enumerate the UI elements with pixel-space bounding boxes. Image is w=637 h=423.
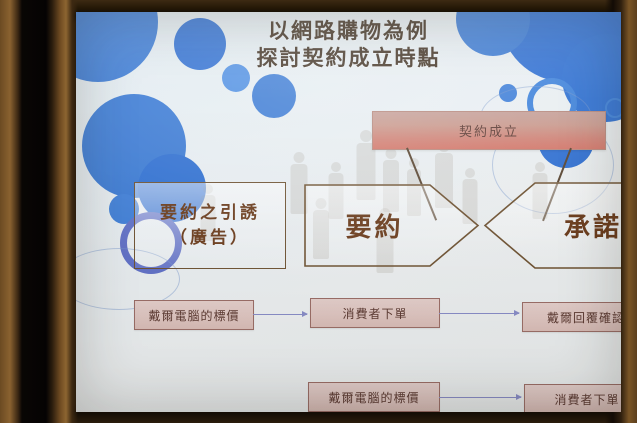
invitation-line-1: 要約之引誘	[160, 203, 260, 223]
example-row1-right-box: 戴爾回覆確認	[522, 302, 621, 332]
title-line-1: 以網路購物為例	[76, 18, 621, 45]
presentation-slide: 以網路購物為例 探討契約成立時點 契約成立 要約之引誘 （廣告） 要約 承諾	[76, 12, 621, 412]
invitation-to-offer-box: 要約之引誘 （廣告）	[134, 182, 286, 269]
projected-slide-photo: 以網路購物為例 探討契約成立時點 契約成立 要約之引誘 （廣告） 要約 承諾	[0, 0, 637, 423]
bubble-ring-decor-3	[605, 98, 621, 118]
example-row1-connector-2	[439, 313, 519, 314]
contract-formed-box: 契約成立	[372, 111, 606, 150]
example-row1-connector-1	[253, 314, 307, 315]
example-row2-connector	[439, 397, 521, 398]
example-row1-left-box: 戴爾電腦的標價	[134, 300, 254, 330]
title-line-2: 探討契約成立時點	[76, 45, 621, 72]
bubble-decor-6	[252, 74, 296, 118]
offer-label: 要約	[345, 207, 403, 244]
slide-title: 以網路購物為例 探討契約成立時點	[76, 18, 621, 73]
example-row2-left-box: 戴爾電腦的標價	[308, 382, 440, 412]
example-row1-middle-box: 消費者下單	[310, 298, 440, 328]
example-row2-right-box: 消費者下單	[524, 384, 621, 412]
invitation-line-2: （廣告）	[170, 228, 250, 248]
acceptance-label: 承諾	[564, 207, 621, 244]
